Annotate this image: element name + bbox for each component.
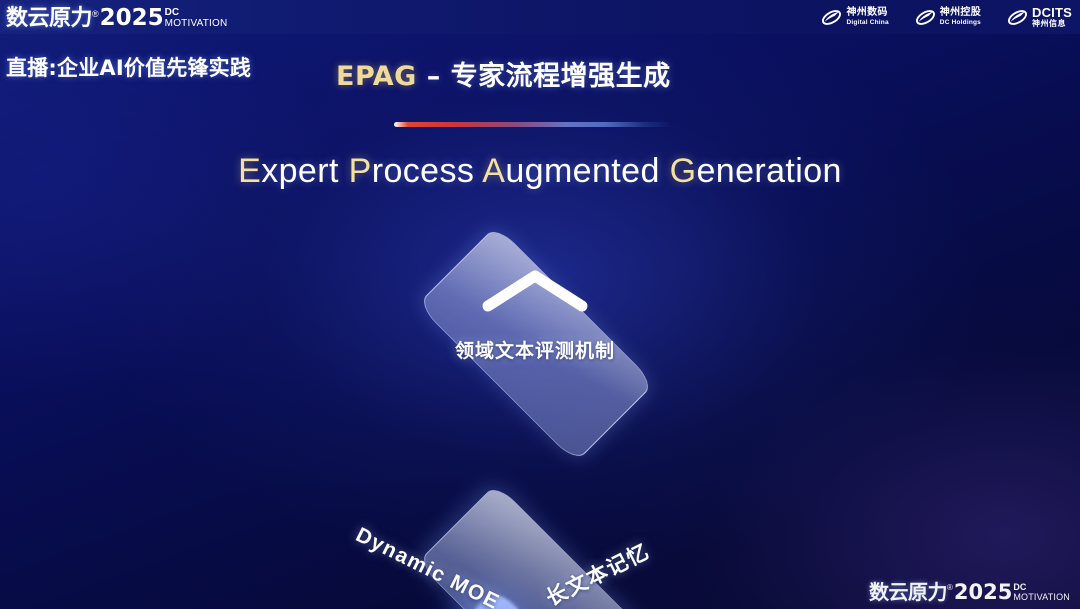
registered-mark: ® [92,7,99,21]
stack-layer-top [313,232,757,454]
subtitle-part: rocess [372,152,483,190]
stack-plate-middle [417,483,655,609]
watermark-registered-mark: ® [947,581,953,595]
swoosh-icon [1007,7,1028,28]
subtitle-part: eneration [696,152,841,190]
partner-name-en: DCITS [1032,6,1072,19]
subtitle-expansion: Expert Process Augmented Generation [0,152,1080,191]
accent-rule-divider [394,122,672,127]
watermark-name-cn: 数云原力 [869,582,947,603]
partner-name-en: Digital China [846,18,888,27]
partner-name-cn: 神州数码 [846,7,888,18]
layered-architecture-diagram: 领域文本评测机制 Dynamic MOE 长文本记忆 三类语义建模模块 [313,232,757,542]
partner-name-cn: 神州控股 [940,7,981,18]
presentation-slide: 数云原力 ® 2025 DC MOTIVATION 神州数码 Digital C… [0,0,1080,609]
partner-logo-group: 神州数码 Digital China 神州控股 DC Holdings [821,4,1072,30]
stack-layer-middle [313,490,757,609]
subtitle-part: ugmented [505,152,669,190]
brand-year: 2025 [100,7,164,30]
partner-name-cn: 神州信息 [1032,19,1072,29]
watermark-dc-text: DC [1013,583,1070,592]
partner-label: 神州控股 DC Holdings [940,7,981,27]
brand-dc-text: DC [165,8,228,18]
partner-label: 神州数码 Digital China [846,7,888,27]
watermark-motivation-text: MOTIVATION [1013,592,1070,602]
stack-plate-top [417,225,655,463]
subtitle-part: G [670,152,697,190]
partner-logo-dcits: DCITS 神州信息 [1007,6,1072,29]
subtitle-part: P [349,152,372,190]
brand-watermark: 数云原力 ® 2025 DC MOTIVATION [869,581,1070,603]
page-title: EPAG – 专家流程增强生成 [336,54,671,93]
partner-logo-dc-holdings: 神州控股 DC Holdings [915,7,981,28]
watermark-year: 2025 [954,582,1012,603]
subtitle-part: A [482,152,505,190]
partner-label: DCITS 神州信息 [1032,6,1072,29]
subtitle-part: xpert [261,152,348,190]
watermark-dc-motivation: DC MOTIVATION [1013,583,1070,602]
live-broadcast-label: 直播:企业AI价值先锋实践 [6,52,251,82]
brand-name-cn: 数云原力 [6,7,92,30]
partner-logo-digital-china: 神州数码 Digital China [821,7,888,28]
subtitle-part: E [238,152,261,190]
brand-logo: 数云原力 ® 2025 DC MOTIVATION [6,3,227,30]
partner-name-en: DC Holdings [940,18,981,27]
brand-dc-motivation: DC MOTIVATION [165,8,228,29]
title-acronym: EPAG [336,61,417,92]
swoosh-icon [915,7,936,28]
title-separator: – [417,61,451,92]
swoosh-icon [821,7,842,28]
brand-motivation-text: MOTIVATION [165,18,228,29]
title-chinese: 专家流程增强生成 [451,61,671,92]
